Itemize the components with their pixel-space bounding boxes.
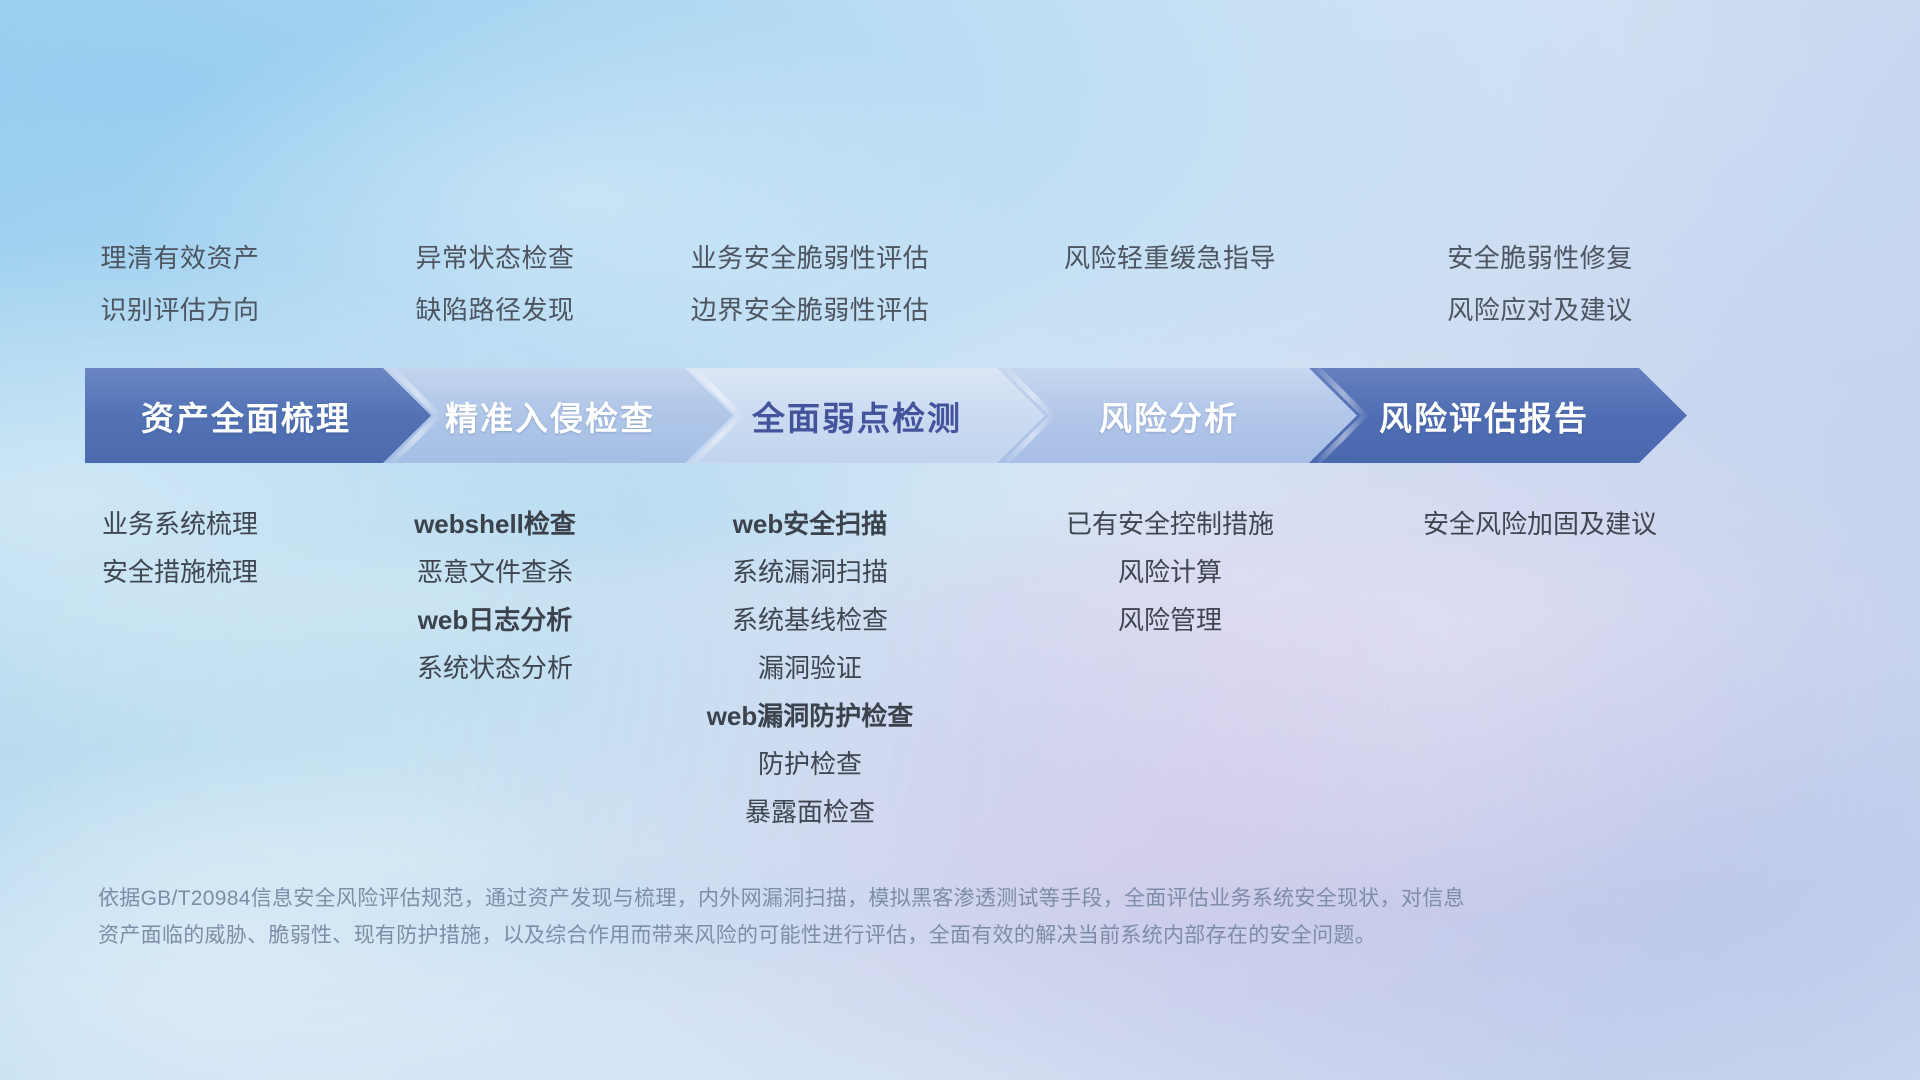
- chevron-stage-5-label: 风险评估报告: [1379, 392, 1589, 440]
- top-annotation-item: 识别评估方向: [0, 284, 360, 336]
- chevron-stage-3[interactable]: 全面弱点检测: [685, 368, 1057, 463]
- top-annotation-item: 缺陷路径发现: [360, 284, 630, 336]
- detail-item: web安全扫描: [630, 500, 990, 548]
- footer-line-2: 资产面临的威胁、脆弱性、现有防护措施，以及综合作用而带来风险的可能性进行评估，全…: [98, 917, 1598, 954]
- chevron-stage-3-label: 全面弱点检测: [752, 392, 962, 440]
- bottom-details-stage-2: webshell检查 恶意文件查杀 web日志分析 系统状态分析: [360, 500, 630, 836]
- top-annotation-item: 安全脆弱性修复: [1350, 232, 1730, 284]
- top-annotation-item: 理清有效资产: [0, 232, 360, 284]
- top-annotations-stage-2: 异常状态检查 缺陷路径发现: [360, 232, 630, 336]
- top-annotation-item: 业务安全脆弱性评估: [630, 232, 990, 284]
- detail-item: 漏洞验证: [630, 644, 990, 692]
- chevron-stage-1[interactable]: 资产全面梳理: [85, 368, 443, 463]
- detail-item: 风险计算: [990, 548, 1350, 596]
- detail-item: 安全风险加固及建议: [1350, 500, 1730, 548]
- stage-chevron-ribbon: 资产全面梳理 精准入侵检查 全面弱点检测 风险分析 风险评估报告: [85, 368, 1835, 463]
- detail-item: web日志分析: [360, 596, 630, 644]
- bottom-details-stage-5: 安全风险加固及建议: [1350, 500, 1730, 836]
- footer-description: 依据GB/T20984信息安全风险评估规范，通过资产发现与梳理，内外网漏洞扫描，…: [98, 880, 1598, 954]
- chevron-stage-4[interactable]: 风险分析: [997, 368, 1369, 463]
- detail-item: 系统漏洞扫描: [630, 548, 990, 596]
- chevron-stage-2[interactable]: 精准入侵检查: [383, 368, 745, 463]
- detail-item: 恶意文件查杀: [360, 548, 630, 596]
- chevron-stage-4-label: 风险分析: [1099, 392, 1239, 440]
- bottom-details-row: 业务系统梳理 安全措施梳理 webshell检查 恶意文件查杀 web日志分析 …: [0, 500, 1920, 836]
- detail-item: web漏洞防护检查: [630, 692, 990, 740]
- detail-item: 风险管理: [990, 596, 1350, 644]
- top-annotation-item: 边界安全脆弱性评估: [630, 284, 990, 336]
- detail-item: 安全措施梳理: [0, 548, 360, 596]
- top-annotation-item: 异常状态检查: [360, 232, 630, 284]
- top-annotation-item: 风险轻重缓急指导: [990, 232, 1350, 284]
- detail-item: 防护检查: [630, 740, 990, 788]
- detail-item: webshell检查: [360, 500, 630, 548]
- top-annotations-row: 理清有效资产 识别评估方向 异常状态检查 缺陷路径发现 业务安全脆弱性评估 边界…: [0, 232, 1920, 336]
- chevron-stage-2-label: 精准入侵检查: [445, 392, 655, 440]
- bottom-details-stage-3: web安全扫描 系统漏洞扫描 系统基线检查 漏洞验证 web漏洞防护检查 防护检…: [630, 500, 990, 836]
- chevron-stage-5[interactable]: 风险评估报告: [1309, 368, 1687, 463]
- top-annotations-stage-1: 理清有效资产 识别评估方向: [0, 232, 360, 336]
- top-annotations-stage-5: 安全脆弱性修复 风险应对及建议: [1350, 232, 1730, 336]
- bottom-details-stage-1: 业务系统梳理 安全措施梳理: [0, 500, 360, 836]
- footer-line-1: 依据GB/T20984信息安全风险评估规范，通过资产发现与梳理，内外网漏洞扫描，…: [98, 880, 1598, 917]
- detail-item: 业务系统梳理: [0, 500, 360, 548]
- top-annotations-stage-4: 风险轻重缓急指导: [990, 232, 1350, 336]
- top-annotations-stage-3: 业务安全脆弱性评估 边界安全脆弱性评估: [630, 232, 990, 336]
- detail-item: 暴露面检查: [630, 788, 990, 836]
- bottom-details-stage-4: 已有安全控制措施 风险计算 风险管理: [990, 500, 1350, 836]
- chevron-stage-1-label: 资产全面梳理: [141, 392, 351, 440]
- detail-item: 系统状态分析: [360, 644, 630, 692]
- process-diagram: 理清有效资产 识别评估方向 异常状态检查 缺陷路径发现 业务安全脆弱性评估 边界…: [0, 0, 1920, 1080]
- detail-item: 已有安全控制措施: [990, 500, 1350, 548]
- top-annotation-item: 风险应对及建议: [1350, 284, 1730, 336]
- detail-item: 系统基线检查: [630, 596, 990, 644]
